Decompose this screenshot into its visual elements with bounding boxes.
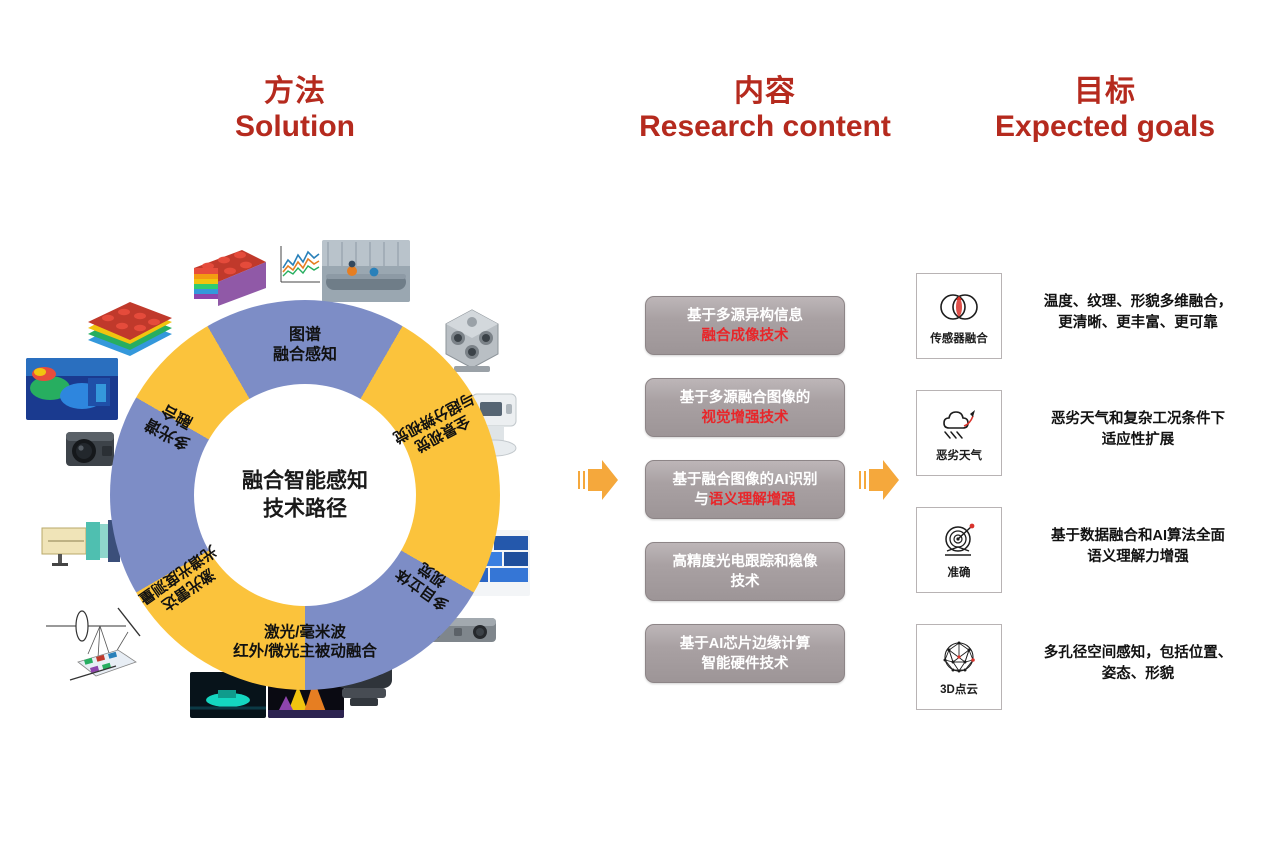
column-header-solution: 方法 Solution: [180, 74, 410, 145]
goal-description-4: 多孔径空间感知，包括位置、 姿态、形貌: [1022, 643, 1254, 684]
diagram-canvas: 方法 Solution 内容 Research content 目标 Expec…: [0, 0, 1268, 866]
goal-card-bad-weather[interactable]: 恶劣天气: [916, 390, 1002, 476]
research-box-1-highlight: 融合成像技术: [702, 328, 789, 344]
column-header-goals: 目标 Expected goals: [955, 74, 1255, 145]
goal-description-2-line2: 适应性扩展: [1022, 430, 1254, 451]
header-solution-en: Solution: [180, 109, 410, 144]
research-box-3-line1: 基于融合图像的AI识别: [673, 472, 818, 488]
wheel-segment-bottom[interactable]: 激光/毫米波 红外/微光主被动融合: [233, 624, 377, 662]
goal-description-1-line1: 温度、纹理、形貌多维融合，: [1022, 292, 1254, 313]
research-box-4[interactable]: 高精度光电跟踪和稳像 技术: [645, 542, 845, 601]
pointcloud-icon: [937, 638, 981, 678]
wheel-segment-top-line1: 图谱: [289, 326, 321, 343]
goal-description-2-line1: 恶劣天气和复杂工况条件下: [1022, 409, 1254, 430]
column-header-content: 内容 Research content: [600, 74, 930, 145]
goal-description-3: 基于数据融合和AI算法全面 语义理解力增强: [1022, 526, 1254, 567]
goal-description-3-line1: 基于数据融合和AI算法全面: [1022, 526, 1254, 547]
goal-description-1-line2: 更清晰、更丰富、更可靠: [1022, 313, 1254, 334]
research-box-5-line2: 智能硬件技术: [702, 656, 789, 672]
goal-description-4-line2: 姿态、形貌: [1022, 664, 1254, 685]
research-box-1-line1: 基于多源异构信息: [687, 308, 803, 324]
wheel-segment-top[interactable]: 图谱 融合感知: [273, 325, 337, 364]
research-box-3-text: 基于融合图像的AI识别 与语义理解增强: [673, 470, 818, 510]
research-box-4-line2: 技术: [731, 574, 760, 590]
arrow-solution-to-content: [574, 455, 620, 505]
goal-description-1: 温度、纹理、形貌多维融合， 更清晰、更丰富、更可靠: [1022, 292, 1254, 333]
research-box-3-highlight: 语义理解增强: [709, 492, 796, 508]
goal-card-point-cloud[interactable]: 3D点云: [916, 624, 1002, 710]
research-box-5-line1: 基于AI芯片边缘计算: [680, 636, 811, 652]
research-box-4-text: 高精度光电跟踪和稳像 技术: [673, 552, 818, 592]
wheel-center-line1: 融合智能感知: [200, 467, 410, 495]
research-box-5-text: 基于AI芯片边缘计算 智能硬件技术: [680, 634, 811, 674]
research-box-5[interactable]: 基于AI芯片边缘计算 智能硬件技术: [645, 624, 845, 683]
wheel-segment-bottom-line2: 红外/微光主被动融合: [233, 643, 377, 662]
goal-card-sensor-fusion[interactable]: 传感器融合: [916, 273, 1002, 359]
thermal-image: [26, 358, 118, 420]
research-box-1[interactable]: 基于多源异构信息 融合成像技术: [645, 296, 845, 355]
research-box-3[interactable]: 基于融合图像的AI识别 与语义理解增强: [645, 460, 845, 519]
goal-description-3-line2: 语义理解力增强: [1022, 547, 1254, 568]
header-goals-en: Expected goals: [955, 109, 1255, 144]
research-box-2-text: 基于多源融合图像的 视觉增强技术: [680, 388, 811, 428]
industrial-pipeline-photo: [322, 240, 410, 302]
research-box-2-line1: 基于多源融合图像的: [680, 390, 811, 406]
spectral-curve-chart-image: [272, 238, 324, 296]
goal-card-bad-weather-caption: 恶劣天气: [936, 447, 982, 463]
goal-card-sensor-fusion-caption: 传感器融合: [930, 330, 988, 346]
wheel-center-line2: 技术路径: [200, 495, 410, 523]
wheel-center-label: 融合智能感知 技术路径: [200, 467, 410, 522]
wheel-segment-top-line2: 融合感知: [273, 345, 337, 365]
goal-description-2: 恶劣天气和复杂工况条件下 适应性扩展: [1022, 409, 1254, 450]
bad-weather-icon: [937, 404, 981, 444]
research-box-2-highlight: 视觉增强技术: [702, 410, 789, 426]
goal-card-accuracy-caption: 准确: [948, 564, 971, 580]
wheel-segment-bottom-line1: 激光/毫米波: [264, 624, 346, 641]
header-content-cn: 内容: [600, 74, 930, 109]
research-box-3-line2-plain: 与: [694, 492, 709, 508]
goal-card-point-cloud-caption: 3D点云: [940, 681, 978, 697]
goal-description-4-line1: 多孔径空间感知，包括位置、: [1022, 643, 1254, 664]
goal-card-accuracy[interactable]: 准确: [916, 507, 1002, 593]
venn-icon: [937, 287, 981, 327]
header-content-en: Research content: [600, 109, 930, 144]
research-box-1-text: 基于多源异构信息 融合成像技术: [687, 306, 803, 346]
target-icon: [937, 521, 981, 561]
research-box-4-line1: 高精度光电跟踪和稳像: [673, 554, 818, 570]
header-solution-cn: 方法: [180, 74, 410, 109]
research-box-2[interactable]: 基于多源融合图像的 视觉增强技术: [645, 378, 845, 437]
technology-roadmap-wheel: 图谱 融合感知 全景视觉 与超分辨视觉 多目立体 视觉 激光/毫米波 红外/微光…: [110, 300, 500, 690]
header-goals-cn: 目标: [955, 74, 1255, 109]
arrow-content-to-goals: [855, 455, 901, 505]
